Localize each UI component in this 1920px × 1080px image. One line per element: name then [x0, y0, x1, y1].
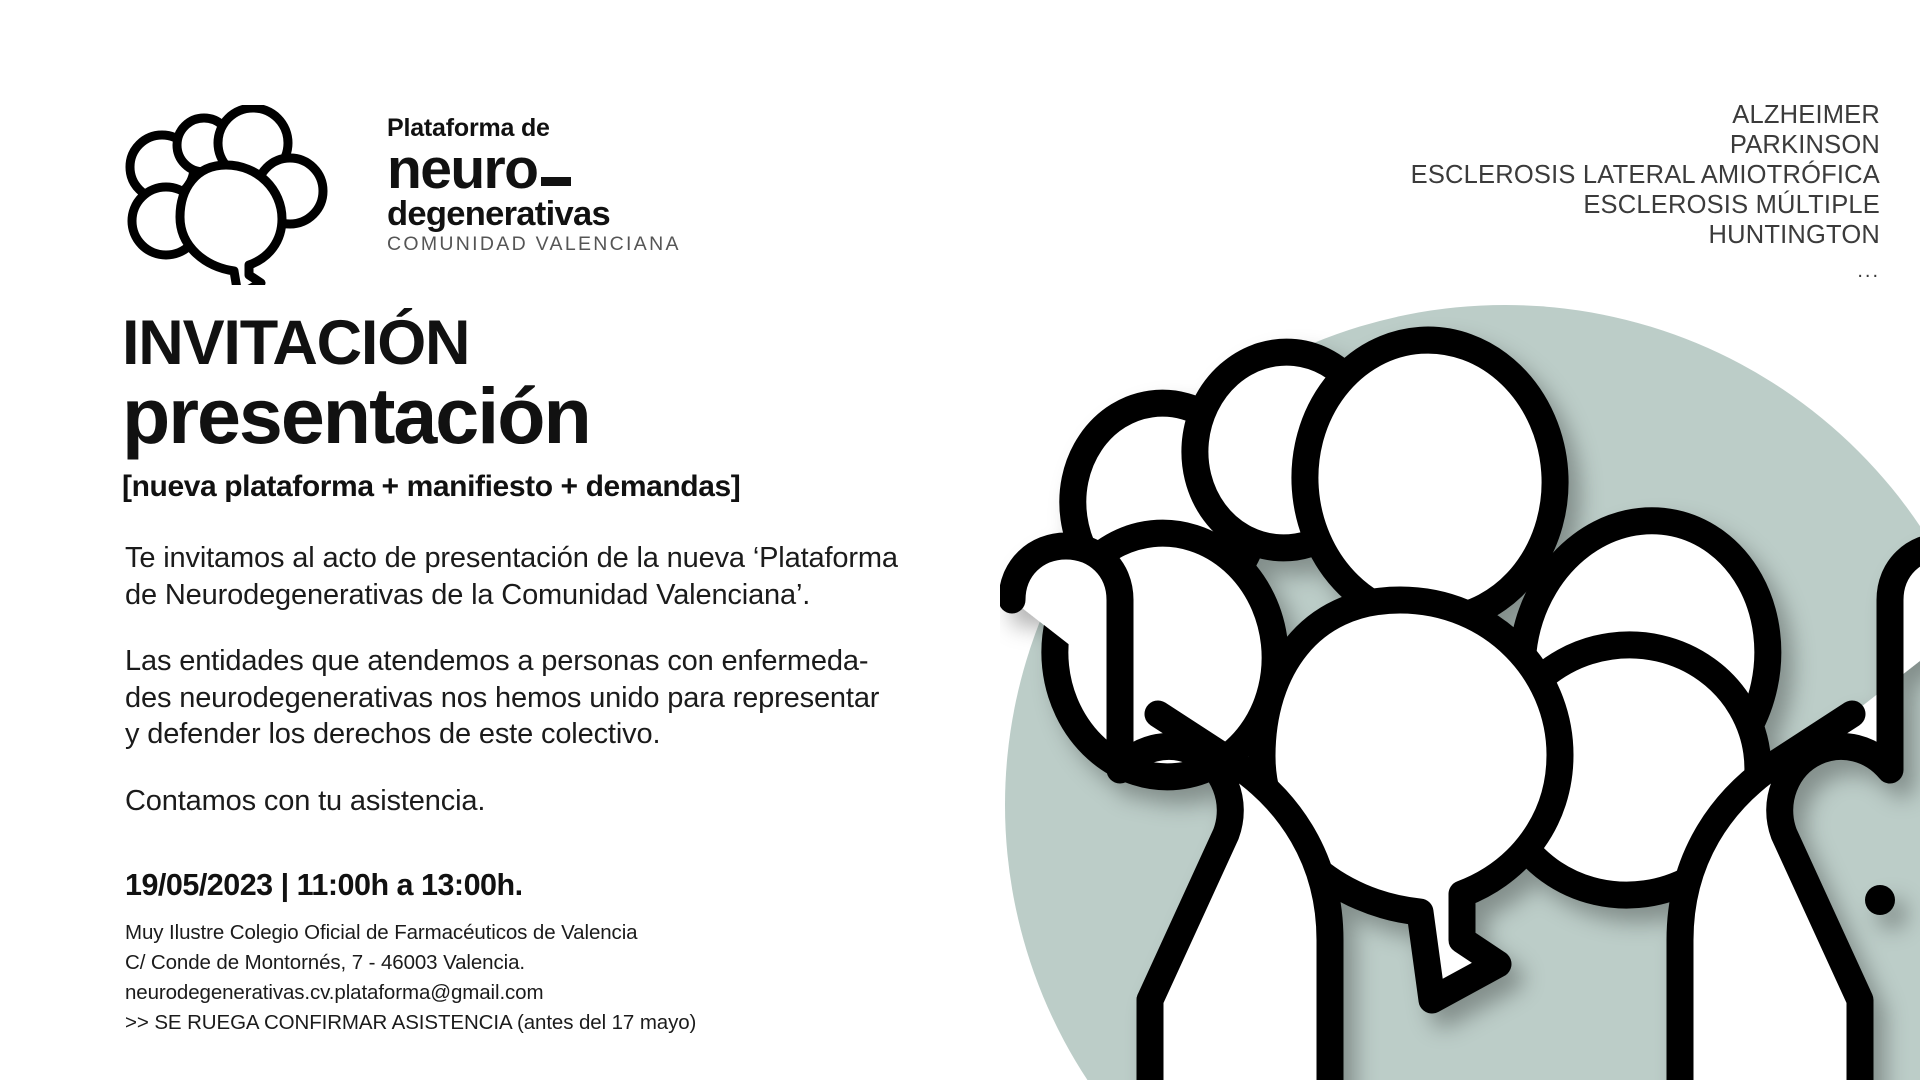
body-p2-line2: des neurodegenerativas nos hemos unido p…	[125, 682, 879, 714]
event-date-time: 19/05/2023 | 11:00h a 13:00h.	[125, 868, 1025, 902]
body-p2-line3: y defender los derechos de este colectiv…	[125, 718, 660, 750]
logo-underscore-mark	[541, 177, 571, 186]
event-details: 19/05/2023 | 11:00h a 13:00h. Muy Ilustr…	[125, 868, 1025, 1038]
disease-item-ela: ESCLEROSIS LATERAL AMIOTRÓFICA	[1411, 160, 1880, 190]
headline-presentacion: presentación	[122, 376, 1042, 455]
logo-line-sub: degenerativas	[387, 196, 681, 232]
body-paragraph-1: Te invitamos al acto de presentación de …	[125, 540, 1025, 613]
event-venue: Muy Ilustre Colegio Oficial de Farmacéut…	[125, 918, 1025, 948]
event-email[interactable]: neurodegenerativas.cv.plataforma@gmail.c…	[125, 978, 1025, 1008]
disease-item-alzheimer: ALZHEIMER	[1411, 100, 1880, 130]
event-address: C/ Conde de Montornés, 7 - 46003 Valenci…	[125, 948, 1025, 978]
body-paragraph-3: Contamos con tu asistencia.	[125, 783, 1025, 820]
disease-list-ellipsis: ...	[1411, 250, 1880, 284]
platform-logo: Plataforma de neuro degenerativas COMUNI…	[122, 105, 762, 285]
logo-wordmark: Plataforma de neuro degenerativas COMUNI…	[387, 114, 681, 256]
brain-speech-bubble-icon	[122, 105, 337, 285]
headline-block: INVITACIÓN presentación [nueva plataform…	[122, 310, 1042, 507]
body-p2-line1: Las entidades que atendemos a personas c…	[125, 645, 868, 677]
headline-invitacion: INVITACIÓN	[122, 310, 1042, 376]
disease-item-esclerosis-multiple: ESCLEROSIS MÚLTIPLE	[1411, 190, 1880, 220]
headline-subtitle: [nueva plataforma + manifiesto + demanda…	[122, 467, 1042, 507]
event-rsvp-note: >> SE RUEGA CONFIRMAR ASISTENCIA (antes …	[125, 1008, 1025, 1038]
logo-line-main: neuro	[387, 142, 537, 196]
hands-holding-brain-illustration	[1000, 300, 1920, 1080]
disease-item-parkinson: PARKINSON	[1411, 130, 1880, 160]
disease-list: ALZHEIMER PARKINSON ESCLEROSIS LATERAL A…	[1411, 100, 1880, 284]
logo-line-region: COMUNIDAD VALENCIANA	[387, 232, 681, 256]
body-copy: Te invitamos al acto de presentación de …	[125, 540, 1025, 819]
disease-item-huntington: HUNTINGTON	[1411, 220, 1880, 250]
body-p1-line1: Te invitamos al acto de presentación de …	[125, 542, 898, 574]
poster-canvas: ALZHEIMER PARKINSON ESCLEROSIS LATERAL A…	[0, 0, 1920, 1080]
right-hand-thumb-dot	[1865, 885, 1895, 915]
body-paragraph-2: Las entidades que atendemos a personas c…	[125, 643, 1025, 753]
body-p1-line2: de Neurodegenerativas de la Comunidad Va…	[125, 579, 810, 611]
